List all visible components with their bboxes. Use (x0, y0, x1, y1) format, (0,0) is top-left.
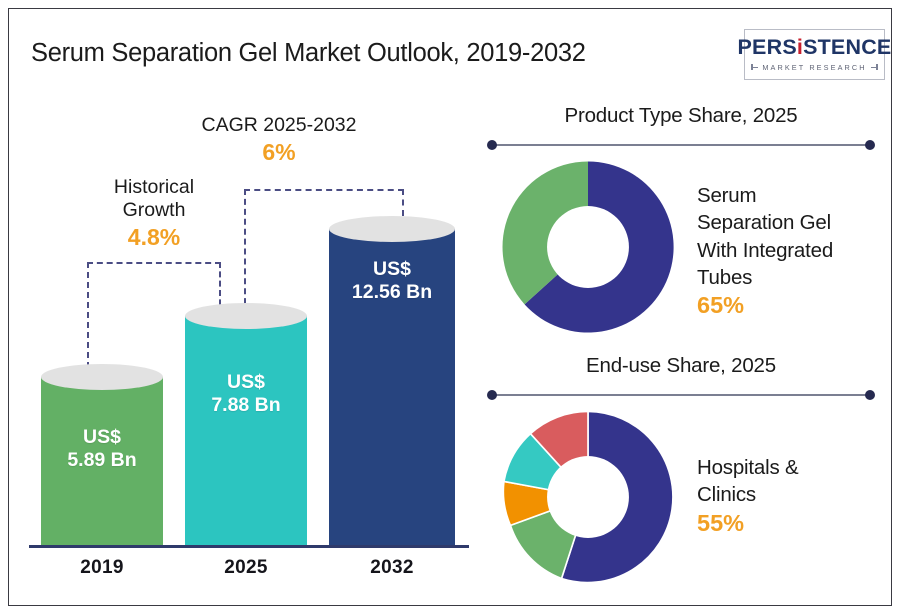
end-use-divider (487, 390, 875, 400)
bar-2025[interactable]: US$ 7.88 Bn 2025 (185, 303, 307, 546)
bar-2032[interactable]: US$ 12.56 Bn 2032 (329, 216, 455, 546)
annotation-historical: Historical Growth 4.8% (39, 176, 269, 251)
product-type-donut-svg (497, 156, 679, 338)
bar-2019[interactable]: US$ 5.89 Bn 2019 (41, 364, 163, 546)
divider-dot-right (865, 390, 875, 400)
chart-baseline (29, 545, 469, 548)
bar-2032-value: US$ 12.56 Bn (329, 258, 455, 304)
product-type-donut[interactable] (497, 156, 679, 338)
end-use-donut[interactable] (497, 406, 679, 588)
end-use-title: End-use Share, 2025 (479, 354, 883, 378)
share-panel: Product Type Share, 2025 Serum Separatio… (479, 94, 883, 594)
bar-2019-value: US$ 5.89 Bn (41, 426, 163, 472)
product-type-title: Product Type Share, 2025 (479, 104, 883, 128)
page-title: Serum Separation Gel Market Outlook, 201… (31, 39, 731, 68)
logo-word-part1: PERS (738, 35, 797, 59)
logo-right-tick-icon (871, 67, 878, 68)
bar-2025-value: US$ 7.88 Bn (185, 371, 307, 417)
bar-2032-year: 2032 (329, 557, 455, 579)
logo-wordmark: PERSiSTENCE (738, 37, 892, 59)
end-use-legend-value: 55% (697, 510, 877, 537)
product-type-legend: Serum Separation Gel With Integrated Tub… (697, 182, 877, 319)
divider-dot-left (487, 140, 497, 150)
end-use-donut-slices (497, 406, 679, 588)
divider-dot-left (487, 390, 497, 400)
end-use-legend: Hospitals & Clinics 55% (697, 454, 877, 537)
logo-word-part2: STENCE (803, 35, 891, 59)
infographic-card: Serum Separation Gel Market Outlook, 201… (8, 8, 892, 606)
bar-chart: CAGR 2025-2032 6% Historical Growth 4.8%… (19, 94, 479, 594)
divider-dot-right (865, 140, 875, 150)
product-type-legend-label: Serum Separation Gel With Integrated Tub… (697, 182, 877, 291)
donut-hole-overlay (547, 456, 629, 538)
logo-subtitle-row: MARKET RESEARCH (751, 63, 877, 72)
annotation-historical-caption: Historical Growth (39, 176, 269, 222)
divider-line (492, 394, 870, 396)
product-type-divider (487, 140, 875, 150)
donut-hole (547, 206, 629, 288)
company-logo: PERSiSTENCE MARKET RESEARCH (744, 29, 885, 80)
annotation-cagr: CAGR 2025-2032 6% (149, 114, 409, 166)
annotation-cagr-caption: CAGR 2025-2032 (149, 114, 409, 137)
product-type-legend-value: 65% (697, 292, 877, 319)
annotation-historical-value: 4.8% (39, 224, 269, 251)
annotation-cagr-value: 6% (149, 139, 409, 166)
divider-line (492, 144, 870, 146)
logo-subtitle: MARKET RESEARCH (762, 63, 866, 72)
logo-left-tick-icon (751, 67, 758, 68)
bar-2025-year: 2025 (185, 557, 307, 579)
end-use-legend-label: Hospitals & Clinics (697, 454, 877, 509)
bar-2019-year: 2019 (41, 557, 163, 579)
